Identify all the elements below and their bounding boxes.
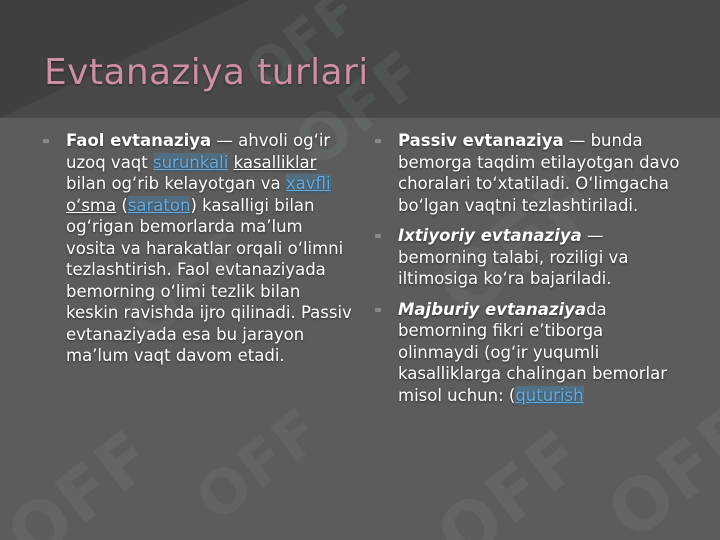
underlined-term: kasalliklar bbox=[234, 153, 317, 172]
right-text-column: Passiv evtanaziya — bunda bemorga taqdim… bbox=[372, 130, 692, 415]
bullet-item: Faol evtanaziya — ahvoli og‘ir uzoq vaqt… bbox=[40, 130, 356, 367]
slide-canvas: OFF OFF OFF OFF OFF OFF OFF OFF Evtanazi… bbox=[0, 0, 720, 540]
bullet-item: Passiv evtanaziya — bunda bemorga taqdim… bbox=[372, 130, 688, 216]
bullet-item: Ixtiyoriy evtanaziya — bemorning talabi,… bbox=[372, 225, 688, 290]
content-columns: Faol evtanaziya — ahvoli og‘ir uzoq vaqt… bbox=[0, 130, 720, 415]
watermark-text: OFF bbox=[0, 414, 169, 540]
body-text: bilan og‘rib kelayotgan va bbox=[66, 174, 286, 193]
watermark-text: OFF bbox=[422, 414, 599, 540]
bullet-item: Majburiy evtanaziyada bemorning fikri e’… bbox=[372, 299, 688, 407]
emphasis-term: Majburiy evtanaziya bbox=[398, 300, 586, 319]
body-text: ( bbox=[116, 196, 128, 215]
hyperlink[interactable]: xavfli bbox=[286, 174, 331, 193]
underlined-term: o‘sma bbox=[66, 196, 116, 215]
emphasis-term: Ixtiyoriy evtanaziya bbox=[398, 226, 582, 245]
watermark-text: OFF bbox=[183, 395, 336, 536]
hyperlink[interactable]: surunkali bbox=[153, 153, 228, 172]
hyperlink[interactable]: saraton bbox=[128, 196, 191, 215]
left-text-column: Faol evtanaziya — ahvoli og‘ir uzoq vaqt… bbox=[40, 130, 360, 415]
emphasis-term: Passiv evtanaziya bbox=[398, 131, 564, 150]
slide-title: Evtanaziya turlari bbox=[44, 52, 369, 94]
hyperlink[interactable]: quturish bbox=[515, 386, 583, 405]
emphasis-term: Faol evtanaziya bbox=[66, 131, 211, 150]
body-text: ) kasalligi bilan og‘rigan bemorlarda ma… bbox=[66, 196, 352, 366]
